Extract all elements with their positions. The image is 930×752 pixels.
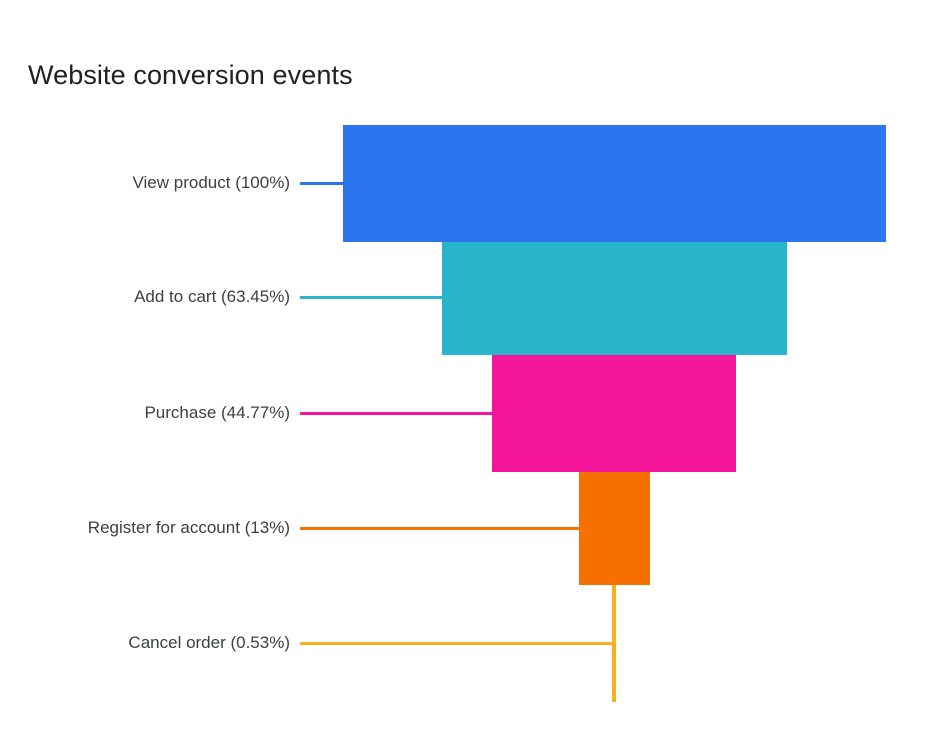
stage-bar[interactable] xyxy=(492,355,736,472)
stage-bar[interactable] xyxy=(612,585,616,702)
stage-bar[interactable] xyxy=(343,125,886,242)
stage-leader-line xyxy=(300,182,343,185)
stage-leader-line xyxy=(300,412,492,415)
stage-leader-line xyxy=(300,527,579,530)
stage-label: Cancel order (0.53%) xyxy=(0,632,290,654)
funnel-chart: Website conversion events View product (… xyxy=(0,0,930,752)
stage-label: Add to cart (63.45%) xyxy=(0,286,290,308)
stage-leader-line xyxy=(300,642,612,645)
stage-label: View product (100%) xyxy=(0,172,290,194)
stage-bar[interactable] xyxy=(579,472,650,585)
stage-label: Purchase (44.77%) xyxy=(0,402,290,424)
stage-label: Register for account (13%) xyxy=(0,517,290,539)
stage-bar[interactable] xyxy=(442,242,787,355)
stage-leader-line xyxy=(300,296,442,299)
chart-title: Website conversion events xyxy=(28,57,353,93)
